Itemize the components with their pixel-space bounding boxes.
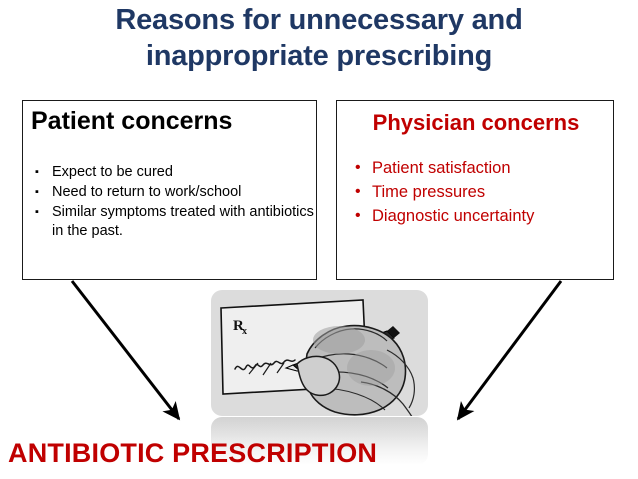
page-title-line-1: Reasons for unnecessary and <box>0 2 638 38</box>
list-item-label: Patient satisfaction <box>372 159 511 177</box>
list-item: • Diagnostic uncertainty <box>355 204 605 228</box>
prescription-writing-illustration: R x <box>211 290 428 416</box>
arrow-patient-to-prescription <box>72 281 179 419</box>
round-bullet-icon: • <box>355 156 361 180</box>
round-bullet-icon: • <box>355 180 361 204</box>
list-item-label: Need to return to work/school <box>52 184 241 200</box>
list-item-label: Time pressures <box>372 183 485 201</box>
svg-text:x: x <box>242 326 247 337</box>
list-item: • Time pressures <box>355 180 605 204</box>
patient-concerns-list: ▪ Expect to be cured ▪ Need to return to… <box>35 163 315 242</box>
physician-concerns-box: Physician concerns • Patient satisfactio… <box>336 100 614 280</box>
list-item: ▪ Expect to be cured <box>35 163 315 182</box>
page-title: Reasons for unnecessary and inappropriat… <box>0 2 638 74</box>
patient-concerns-box: Patient concerns ▪ Expect to be cured ▪ … <box>22 100 317 280</box>
physician-concerns-heading: Physician concerns <box>337 109 615 136</box>
square-bullet-icon: ▪ <box>35 183 39 202</box>
round-bullet-icon: • <box>355 204 361 228</box>
physician-concerns-list: • Patient satisfaction • Time pressures … <box>355 156 605 228</box>
list-item-label: Diagnostic uncertainty <box>372 207 534 225</box>
list-item-label: Expect to be cured <box>52 164 173 180</box>
page-title-line-2: inappropriate prescribing <box>0 38 638 74</box>
square-bullet-icon: ▪ <box>35 163 39 182</box>
arrow-physician-to-prescription <box>458 281 561 419</box>
slide-canvas: Reasons for unnecessary and inappropriat… <box>0 0 638 479</box>
patient-concerns-heading: Patient concerns <box>31 106 232 136</box>
antibiotic-prescription-label: ANTIBIOTIC PRESCRIPTION <box>8 437 377 470</box>
list-item: ▪ Need to return to work/school <box>35 183 315 202</box>
hand-illustration <box>297 326 415 416</box>
list-item-label: Similar symptoms treated with antibiotic… <box>52 204 314 239</box>
list-item: ▪ Similar symptoms treated with antibiot… <box>35 203 315 241</box>
square-bullet-icon: ▪ <box>35 203 39 222</box>
list-item: • Patient satisfaction <box>355 156 605 180</box>
